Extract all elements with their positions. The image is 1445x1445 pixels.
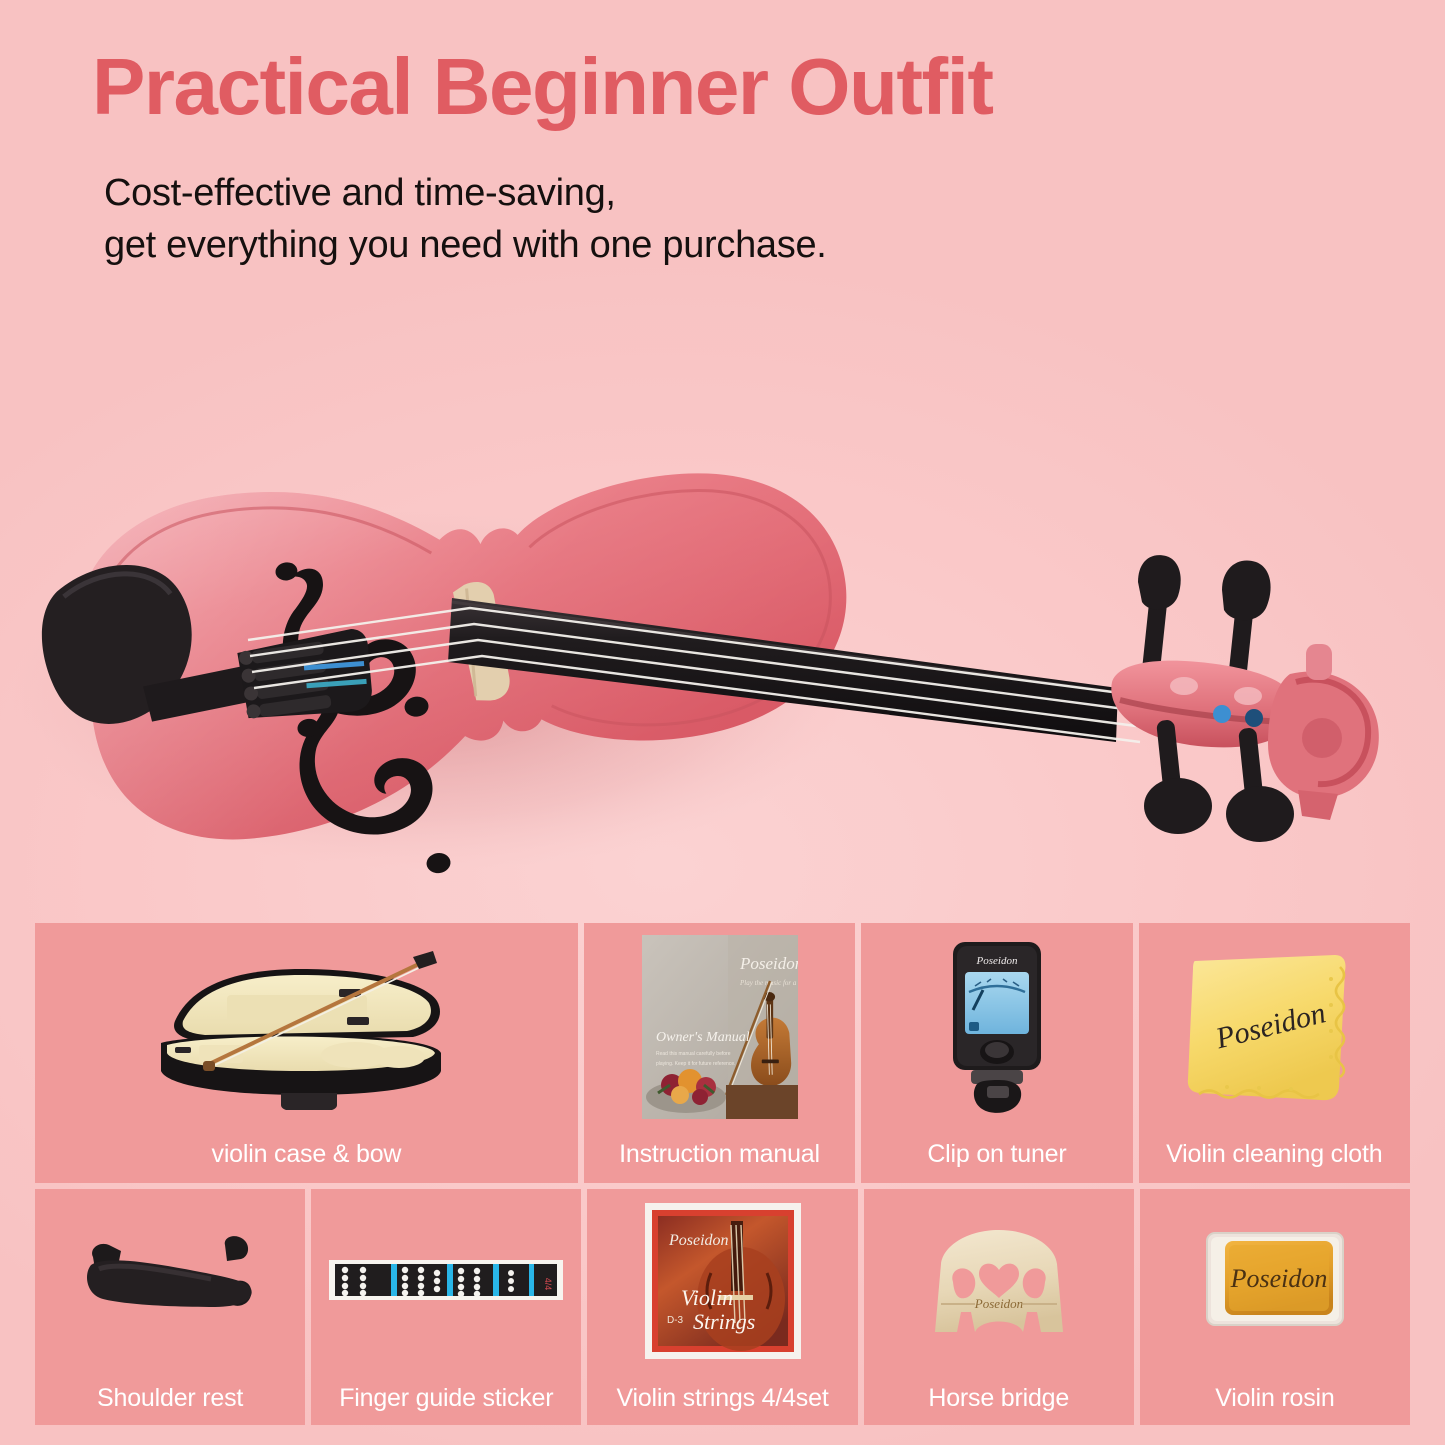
clip-on-tuner-image: Poseidon [861,923,1132,1131]
accessory-cell-clip-on-tuner[interactable]: Poseidon [861,923,1132,1183]
hero-violin-image [0,290,1445,910]
accessory-cell-shoulder-rest[interactable]: Shoulder rest [35,1189,305,1425]
violin-scroll [1268,644,1379,820]
rosin-brand: Poseidon [1230,1264,1328,1293]
accessory-label: Violin strings 4/4set [587,1384,857,1425]
accessory-cell-instruction-manual[interactable]: Poseidon Play the music for a lifetime [584,923,855,1183]
manual-title: Owner's Manual [656,1030,750,1045]
violin-strings-image: Poseidon Violin Strings D-3 [587,1189,857,1373]
subtitle-line-2: get everything you need with one purchas… [104,220,1304,272]
accessory-cell-violin-rosin[interactable]: Poseidon Violin rosin [1140,1189,1410,1425]
instruction-manual-image: Poseidon Play the music for a lifetime [584,923,855,1131]
finger-guide-sticker-image: 4/4 [311,1189,581,1373]
violin-rosin-image: Poseidon [1140,1189,1410,1373]
accessory-label: Instruction manual [584,1140,855,1183]
bridge-brand: Poseidon [974,1296,1023,1311]
shoulder-rest-image [35,1189,305,1373]
strings-brand: Poseidon [668,1232,729,1249]
accessory-label: Violin cleaning cloth [1139,1140,1410,1183]
cleaning-cloth-image: Poseidon [1139,923,1410,1131]
accessory-label: Clip on tuner [861,1140,1132,1183]
manual-body-line-2: playing. Keep it for future reference. [656,1061,736,1067]
accessories-grid: violin case & bow [35,923,1410,1425]
product-infographic: Practical Beginner Outfit Cost-effective… [0,0,1445,1445]
page-subtitle: Cost-effective and time-saving, get ever… [104,168,1304,271]
accessories-row-1: violin case & bow [35,923,1410,1183]
accessory-cell-finger-guide-sticker[interactable]: 4/4 Finger guide sticker [311,1189,581,1425]
tuning-peg-upper-2 [1222,560,1271,682]
accessory-cell-horse-bridge[interactable]: Poseidon Horse bridge [864,1189,1134,1425]
subtitle-line-1: Cost-effective and time-saving, [104,168,1304,220]
accessory-cell-violin-case-bow[interactable]: violin case & bow [35,923,578,1183]
horse-bridge-image: Poseidon [864,1189,1134,1373]
accessory-label: Horse bridge [864,1384,1134,1425]
strings-code: D-3 [667,1315,684,1326]
strings-title-line-2: Strings [693,1309,755,1334]
strings-title-line-1: Violin [681,1285,733,1310]
accessories-row-2: Shoulder rest [35,1189,1410,1425]
tuning-peg-upper-1 [1138,555,1181,673]
sticker-size-label: 4/4 [543,1278,553,1291]
tuner-brand: Poseidon [975,955,1017,967]
violin-case-bow-image [35,923,578,1131]
accessory-cell-cleaning-cloth[interactable]: Poseidon Violin cleaning cloth [1139,923,1410,1183]
accessory-label: Finger guide sticker [311,1384,581,1425]
accessory-label: Shoulder rest [35,1384,305,1425]
accessory-label: violin case & bow [35,1140,578,1183]
violin-pegbox [1111,555,1378,842]
page-title: Practical Beginner Outfit [92,46,1382,128]
manual-brand: Poseidon [739,954,798,973]
accessory-cell-violin-strings[interactable]: Poseidon Violin Strings D-3 Violin strin… [587,1189,857,1425]
manual-body-line-1: Read this manual carefully before [656,1051,731,1057]
accessory-label: Violin rosin [1140,1384,1410,1425]
